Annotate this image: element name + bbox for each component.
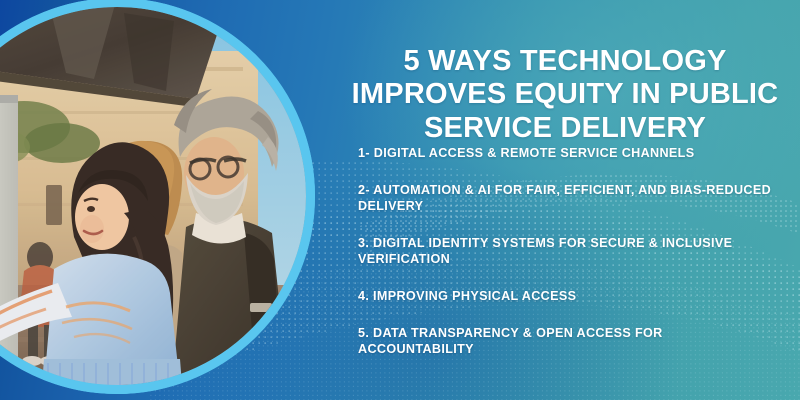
hero-photo-image: Three people using a public service kios… <box>0 7 306 385</box>
list-item: 3. Digital Identity Systems for Secure &… <box>358 236 778 267</box>
list-item: 5. Data Transparency & Open Access for A… <box>358 326 778 357</box>
hero-photo-clip: Three people using a public service kios… <box>0 7 306 385</box>
list-item: 1- Digital Access & Remote Service Chann… <box>358 146 778 161</box>
list-item: 4. Improving Physical Access <box>358 289 778 304</box>
page-title: 5 Ways Technology Improves Equity in Pub… <box>346 45 784 144</box>
list-item: 2- Automation & AI for Fair, Efficient, … <box>358 183 778 214</box>
points-list: 1- Digital Access & Remote Service Chann… <box>358 146 778 357</box>
infographic-canvas: Three people using a public service kios… <box>0 0 800 400</box>
